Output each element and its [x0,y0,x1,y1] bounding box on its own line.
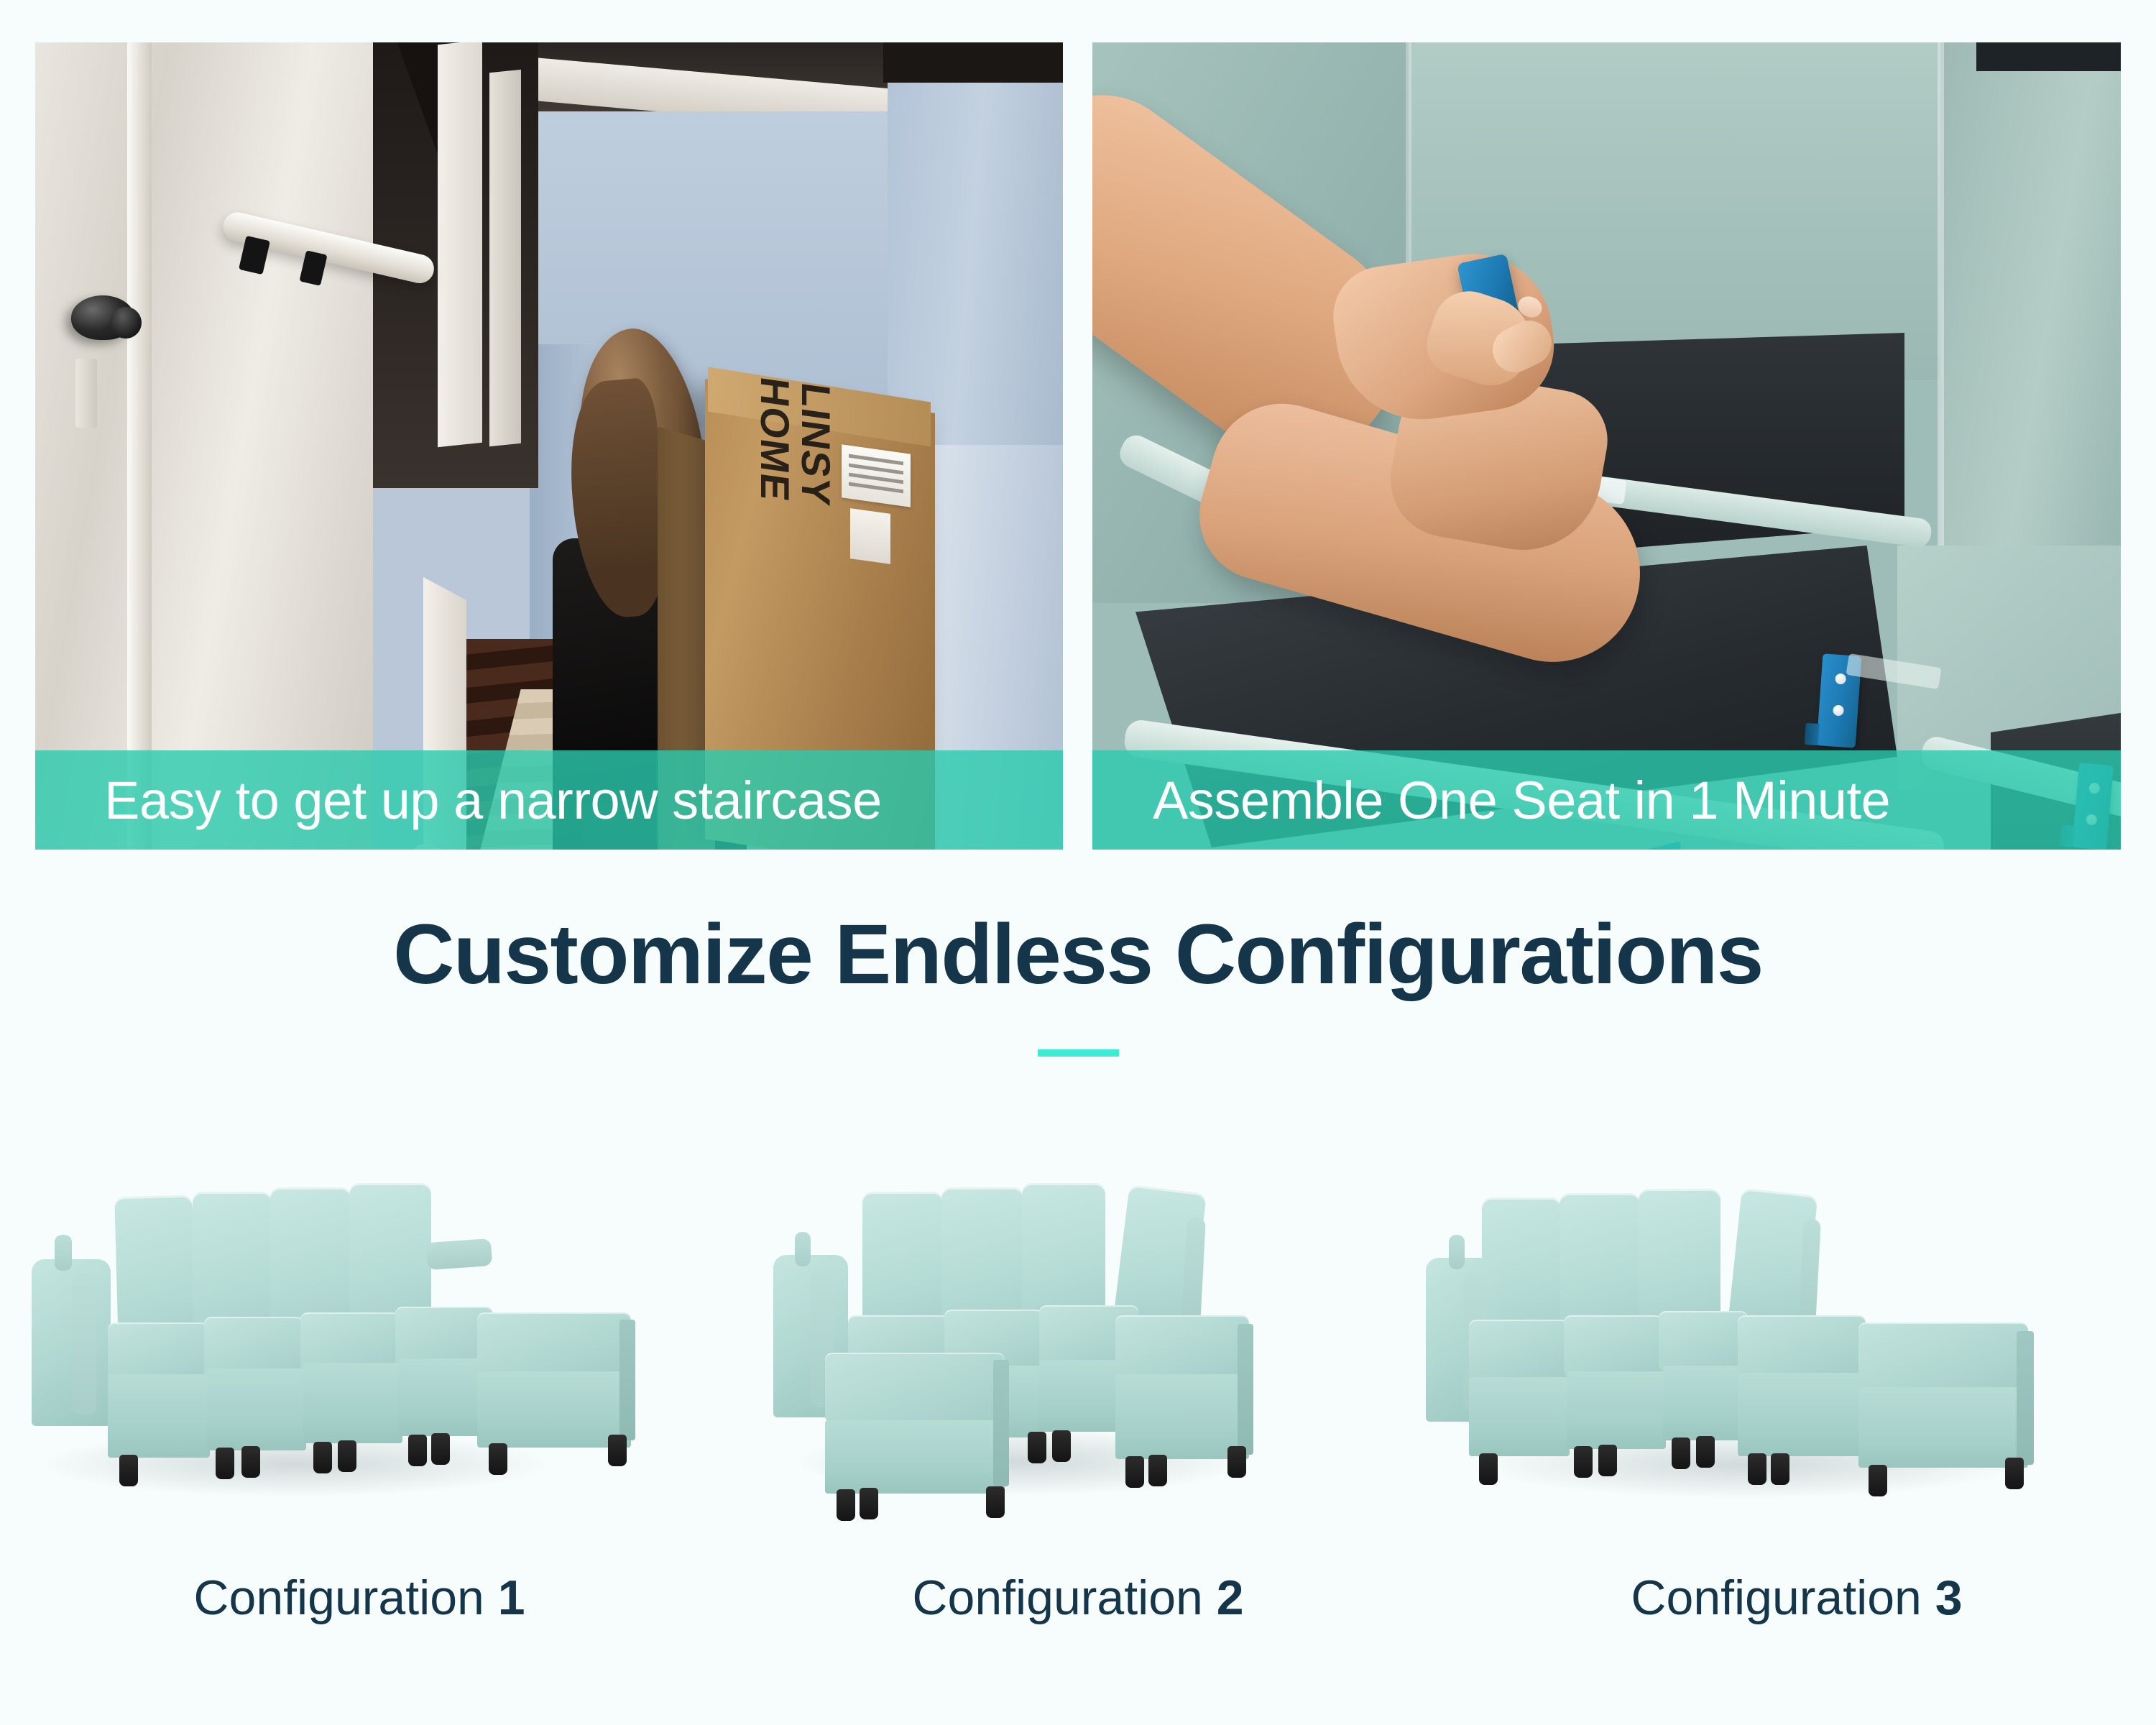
module-base [303,1363,402,1443]
configuration-1-label: Configuration 1 [193,1570,525,1626]
configuration-card-1[interactable]: Configuration 1 [0,1179,719,1626]
chaise-side [2017,1331,2034,1465]
accent-divider [1038,1049,1119,1057]
sofa-foot [216,1448,234,1479]
sofa-arm-left [32,1259,111,1426]
configuration-card-2[interactable]: Configuration 2 [719,1179,1437,1626]
module-base [108,1374,210,1458]
corner-module-foot [1125,1456,1144,1488]
backrest-cushion [862,1192,943,1335]
configuration-3-word: Configuration [1631,1570,1921,1625]
sofa-arm-bolster [1449,1235,1465,1269]
ottoman-foot [608,1435,627,1466]
chaise-foot [2005,1458,2024,1489]
backrest-cushion [1022,1183,1105,1324]
sofa-arm-bolster [55,1235,72,1271]
sofa-foot [1672,1437,1690,1469]
sofa-foot [1028,1432,1046,1463]
ottoman-foot [860,1488,878,1519]
corner-module-foot [1748,1453,1766,1485]
corner-module-base [1738,1373,1866,1456]
configuration-card-3[interactable]: Configuration 3 [1437,1179,2156,1626]
ottoman-side [619,1320,635,1440]
connector-clip-foot [1805,723,1820,745]
picture-frame [438,42,482,447]
ottoman-base [825,1420,1005,1494]
seat-cushion [1564,1315,1663,1376]
backrest-cushion [1560,1193,1640,1334]
ottoman-top [477,1312,631,1376]
carton-brand-line-2: HOME [755,374,796,596]
chaise-foot [1869,1465,1887,1496]
carton-brand-text: LINSY HOME [750,374,837,602]
staircase-caption-band: Easy to get up a narrow staircase [35,750,1063,850]
hallway-wall [35,42,373,850]
section-heading-block: Customize Endless Configurations [0,907,2156,1057]
assembly-scene [1092,42,2121,850]
configuration-3-number: 3 [1935,1570,1963,1625]
configuration-2-illustration [719,1179,1437,1517]
sofa-foot [431,1433,450,1465]
configuration-1-illustration [0,1179,719,1517]
sofa-foot [119,1455,138,1486]
carton-brand-line-1: LINSY [796,380,837,602]
sofa-arm-bolster [795,1232,811,1266]
ottoman-side [993,1360,1009,1486]
sofa-foot [338,1440,356,1472]
shipping-label [842,444,911,507]
seat-cushion [1659,1311,1748,1370]
scene-top-shadow [1976,42,2121,71]
sofa-foot [1696,1436,1715,1468]
shipping-label-lines [849,454,903,498]
corner-module-foot [1148,1455,1167,1486]
feature-photo-row: LINSY HOME Easy to get up a narrow stair… [35,42,2121,850]
configuration-2-word: Configuration [912,1570,1202,1625]
configuration-3-illustration [1437,1179,2156,1517]
configuration-3-label: Configuration 3 [1631,1570,1962,1626]
chaise-top [1858,1322,2028,1391]
corner-module-foot [1771,1453,1789,1485]
chaise-base [1858,1387,2028,1468]
assembly-caption-text: Assemble One Seat in 1 Minute [1092,770,1890,831]
assembly-clip-photo: Assemble One Seat in 1 Minute [1092,42,2121,850]
sofa-foot [1598,1445,1617,1476]
module-base [207,1368,306,1450]
configuration-2-label: Configuration 2 [912,1570,1243,1626]
narrow-staircase-photo: LINSY HOME Easy to get up a narrow stair… [35,42,1063,850]
door-edge [127,42,152,850]
sofa-arm-inner-panel [72,1274,96,1414]
configuration-1-word: Configuration [193,1570,484,1625]
seat-cushion [1469,1320,1568,1380]
top-shadow [883,42,1063,83]
sofa-foot [408,1435,427,1466]
configuration-1-number: 1 [498,1570,525,1625]
ottoman-foot [986,1486,1005,1518]
staircase-scene: LINSY HOME [35,42,1063,850]
door-strike-plate [75,359,97,428]
sofa-foot [1052,1430,1071,1462]
sofa-foot [241,1446,260,1478]
ottoman-foot [837,1489,855,1521]
corner-module-top [1738,1315,1866,1377]
sofa-foot [1574,1446,1593,1478]
corner-module-top [1115,1315,1249,1379]
ottoman-foot [489,1443,507,1475]
door-knob-secondary-icon [110,307,142,339]
assembly-caption-band: Assemble One Seat in 1 Minute [1092,750,2121,850]
module-base [1469,1377,1570,1456]
ottoman-top [825,1353,1005,1423]
page-title: Customize Endless Configurations [0,907,2156,1002]
corner-module-foot [1227,1446,1246,1478]
configuration-2-number: 2 [1217,1570,1244,1625]
staircase-caption-text: Easy to get up a narrow staircase [35,770,882,831]
back-rail [426,1238,492,1270]
sofa-foot [313,1442,332,1473]
corner-module-side [1238,1324,1253,1455]
module-base [1567,1371,1666,1449]
sofa-foot [1479,1453,1498,1485]
shipping-label-secondary [850,508,890,564]
configuration-gallery: Configuration 1 [0,1179,2156,1626]
backrest-cushion [1639,1189,1720,1328]
picture-frame-secondary [489,70,521,447]
backrest-cushion [941,1187,1023,1330]
